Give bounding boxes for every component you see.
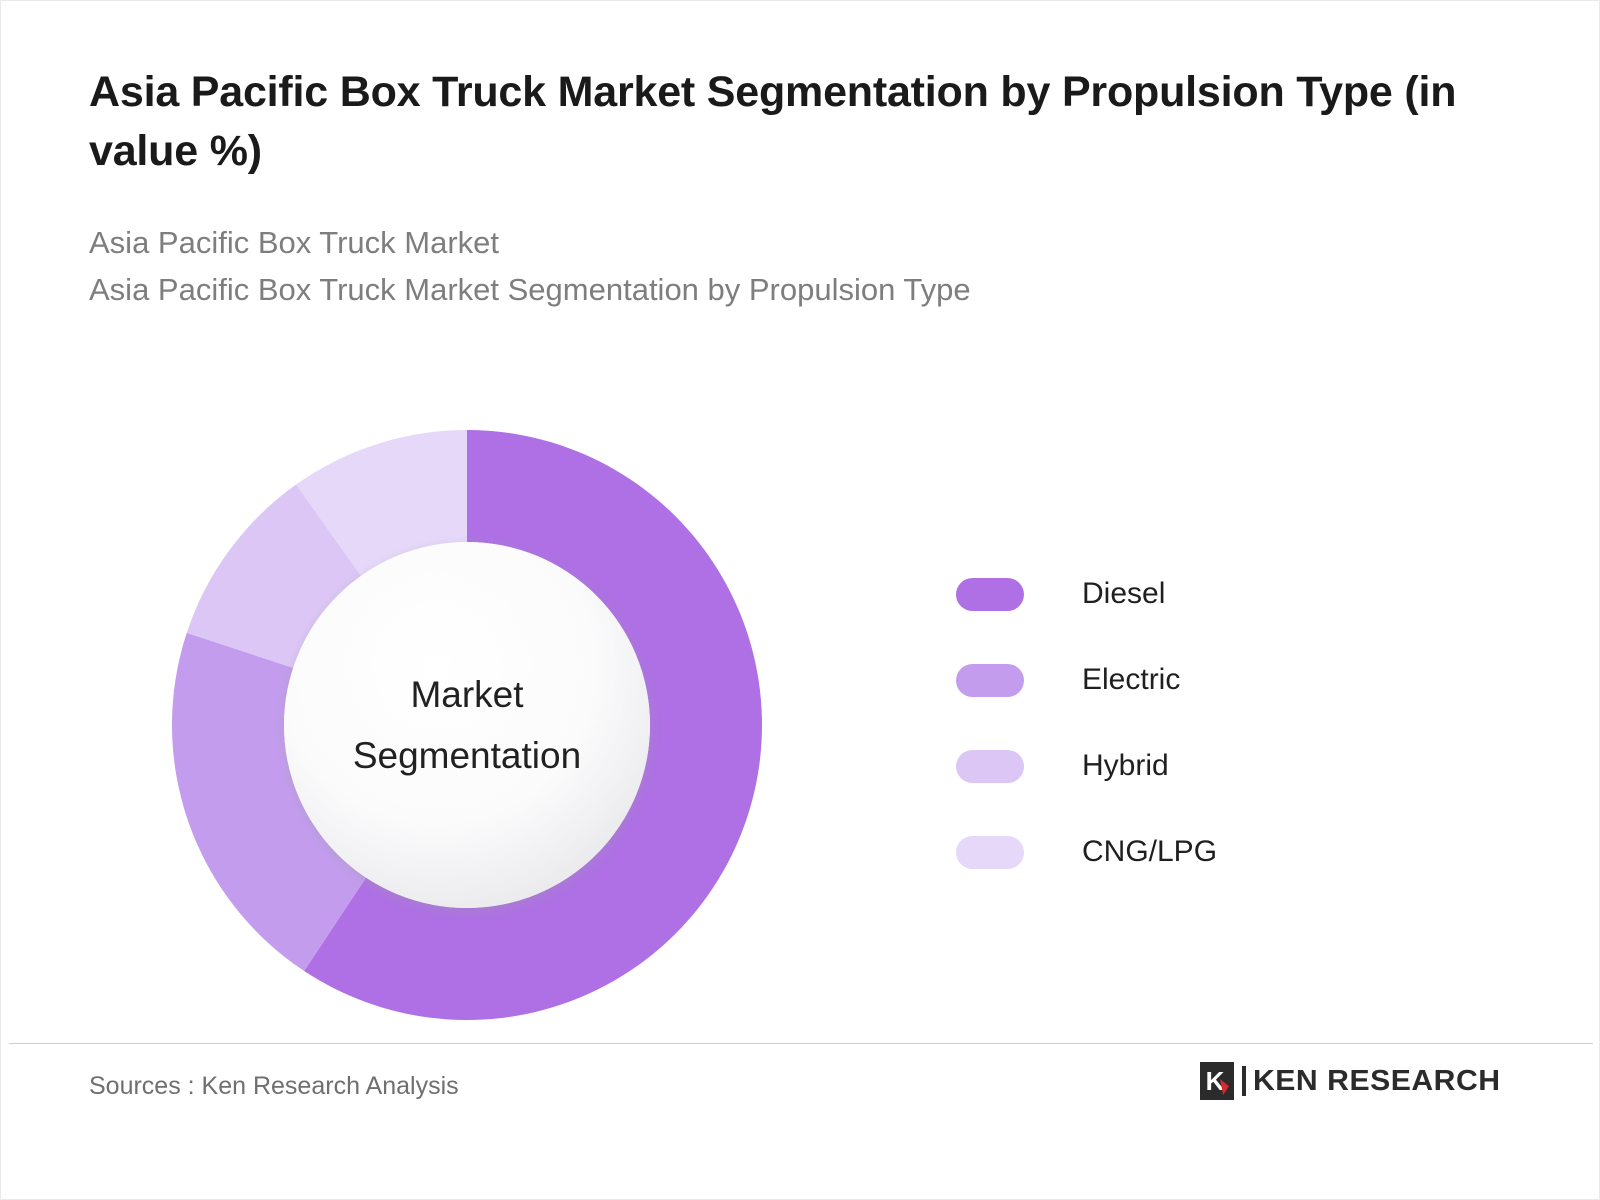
subtitle-line-2: Asia Pacific Box Truck Market Segmentati… <box>89 266 1509 313</box>
slide-canvas: Asia Pacific Box Truck Market Segmentati… <box>0 0 1600 1200</box>
legend-item-hybrid[interactable]: Hybrid <box>956 723 1386 809</box>
brand-logo: K KEN RESEARCH <box>1200 1062 1491 1100</box>
legend-label-electric: Electric <box>1082 663 1180 697</box>
legend-swatch-icon-hybrid <box>956 750 1024 783</box>
donut-svg <box>171 429 763 1021</box>
ken-research-logo-icon: K <box>1200 1062 1234 1100</box>
page-title: Asia Pacific Box Truck Market Segmentati… <box>89 63 1499 181</box>
legend-label-hybrid: Hybrid <box>1082 749 1169 783</box>
subtitle-line-1: Asia Pacific Box Truck Market <box>89 219 1509 266</box>
legend-label-diesel: Diesel <box>1082 577 1165 611</box>
header: Asia Pacific Box Truck Market Segmentati… <box>89 63 1509 313</box>
sources-text: Sources : Ken Research Analysis <box>89 1072 459 1101</box>
chart-legend: Diesel Electric Hybrid CNG/LPG <box>956 551 1386 895</box>
legend-swatch-icon-diesel <box>956 578 1024 611</box>
legend-swatch-icon-electric <box>956 664 1024 697</box>
donut-chart: Market Segmentation <box>171 429 763 1021</box>
legend-item-electric[interactable]: Electric <box>956 637 1386 723</box>
brand-divider <box>1242 1066 1246 1096</box>
legend-swatch-icon-cng-lpg <box>956 836 1024 869</box>
legend-label-cng-lpg: CNG/LPG <box>1082 835 1217 869</box>
chart-area: Market Segmentation Diesel Electric Hybr… <box>1 401 1600 1051</box>
brand-name: KEN RESEARCH <box>1253 1065 1501 1098</box>
footer: Sources : Ken Research Analysis K KEN RE… <box>1 1044 1600 1200</box>
legend-item-cng-lpg[interactable]: CNG/LPG <box>956 809 1386 895</box>
donut-hole <box>284 542 650 908</box>
subtitle-block: Asia Pacific Box Truck Market Asia Pacif… <box>89 219 1509 313</box>
legend-item-diesel[interactable]: Diesel <box>956 551 1386 637</box>
